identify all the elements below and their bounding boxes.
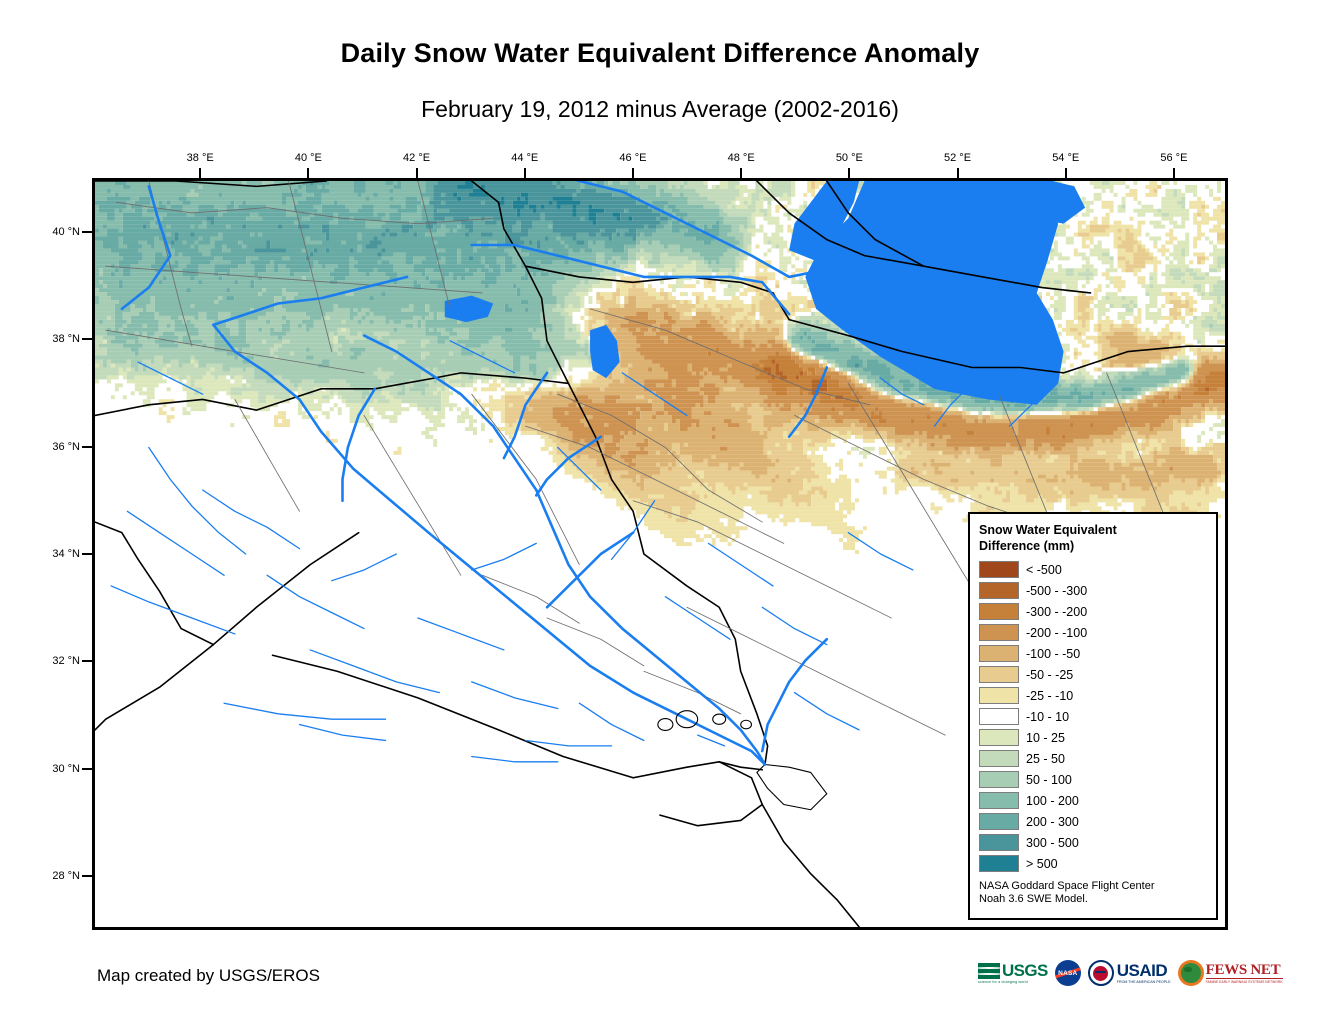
minor-river [224, 703, 385, 719]
legend-row: 100 - 200 [979, 790, 1207, 811]
usaid-logo: USAID FROM THE AMERICAN PEOPLE [1088, 960, 1171, 986]
minor-river [794, 693, 859, 730]
legend-class-label: > 500 [1026, 857, 1058, 871]
admin-border [235, 399, 300, 511]
legend-color-swatch [979, 624, 1019, 641]
fews-net-tagline: FAMINE EARLY WARNING SYSTEMS NETWORK [1206, 980, 1283, 984]
lat-tick-label: 28 °N [34, 870, 80, 882]
fews-globe-land-icon [1181, 963, 1201, 983]
minor-river [418, 618, 504, 650]
legend-class-label: 10 - 25 [1026, 731, 1065, 745]
legend-row: 200 - 300 [979, 811, 1207, 832]
legend-color-swatch [979, 834, 1019, 851]
nasa-logo: NASA [1055, 960, 1081, 986]
legend-row: -500 - -300 [979, 580, 1207, 601]
lon-tick-mark [740, 168, 742, 178]
legend-color-swatch [979, 813, 1019, 830]
usgs-wordmark: USGS [1002, 962, 1048, 979]
legend-row: -10 - 10 [979, 706, 1207, 727]
lon-tick-label: 50 °E [836, 152, 863, 164]
legend-class-label: -500 - -300 [1026, 584, 1087, 598]
usaid-tagline: FROM THE AMERICAN PEOPLE [1117, 980, 1171, 984]
page-subtitle: February 19, 2012 minus Average (2002-20… [0, 96, 1320, 123]
agency-logo-strip: USGS science for a changing world NASA U… [978, 955, 1283, 991]
minor-river [472, 756, 558, 761]
legend-row: -100 - -50 [979, 643, 1207, 664]
legend-color-swatch [979, 750, 1019, 767]
lon-tick-label: 46 °E [619, 152, 646, 164]
lat-tick-mark [82, 875, 92, 877]
minor-river [472, 682, 558, 709]
legend-class-label: 50 - 100 [1026, 773, 1072, 787]
legend-row: 25 - 50 [979, 748, 1207, 769]
legend-class-label: -100 - -50 [1026, 647, 1080, 661]
legend-color-swatch [979, 666, 1019, 683]
minor-river [149, 447, 246, 554]
legend-color-swatch [979, 582, 1019, 599]
minor-river [203, 490, 300, 549]
lat-tick-label: 38 °N [34, 333, 80, 345]
legend-class-label: -10 - 10 [1026, 710, 1069, 724]
legend-class-label: 300 - 500 [1026, 836, 1079, 850]
legend-color-swatch [979, 855, 1019, 872]
legend-color-swatch [979, 561, 1019, 578]
lon-tick-mark [307, 168, 309, 178]
lat-tick-mark [82, 231, 92, 233]
fews-net-logo: FEWS NET FAMINE EARLY WARNING SYSTEMS NE… [1178, 960, 1283, 986]
legend-class-label: -50 - -25 [1026, 668, 1073, 682]
page-title: Daily Snow Water Equivalent Difference A… [0, 38, 1320, 69]
legend-color-swatch [979, 729, 1019, 746]
legend-row: 50 - 100 [979, 769, 1207, 790]
legend-color-swatch [979, 603, 1019, 620]
major-river [762, 639, 827, 751]
lat-tick-label: 34 °N [34, 548, 80, 560]
national-border [95, 522, 213, 645]
legend-row: -300 - -200 [979, 601, 1207, 622]
lon-tick-label: 44 °E [511, 152, 538, 164]
legend-row: -200 - -100 [979, 622, 1207, 643]
nasa-meatball-icon: NASA [1055, 960, 1081, 986]
national-border [660, 762, 762, 826]
lat-tick-label: 32 °N [34, 655, 80, 667]
legend-class-label: -25 - -10 [1026, 689, 1073, 703]
admin-border [644, 671, 741, 714]
usgs-wave-icon [978, 963, 1000, 979]
legend-row: 300 - 500 [979, 832, 1207, 853]
persian-gulf-head-coast [757, 765, 827, 810]
legend-class-label: 25 - 50 [1026, 752, 1065, 766]
legend-color-swatch [979, 645, 1019, 662]
lat-tick-label: 40 °N [34, 226, 80, 238]
usaid-wordmark: USAID [1117, 962, 1171, 979]
usaid-seal-inner-icon [1093, 966, 1108, 981]
mesopotamian-marsh [741, 720, 752, 729]
legend-class-label: 100 - 200 [1026, 794, 1079, 808]
legend-source-note: NASA Goddard Space Flight Center Noah 3.… [979, 880, 1207, 906]
legend-class-label: -300 - -200 [1026, 605, 1087, 619]
legend-row: -50 - -25 [979, 664, 1207, 685]
lat-tick-mark [82, 768, 92, 770]
lon-tick-mark [524, 168, 526, 178]
minor-river [111, 586, 235, 634]
minor-river [708, 543, 773, 586]
legend-row: -25 - -10 [979, 685, 1207, 706]
fews-globe-icon [1178, 960, 1204, 986]
legend-class-label: < -500 [1026, 563, 1062, 577]
lat-tick-mark [82, 338, 92, 340]
legend-panel: Snow Water Equivalent Difference (mm) < … [968, 512, 1218, 920]
legend-color-swatch [979, 687, 1019, 704]
usgs-logo: USGS science for a changing world [978, 962, 1048, 984]
lon-tick-label: 56 °E [1160, 152, 1187, 164]
lon-tick-mark [957, 168, 959, 178]
lon-tick-mark [199, 168, 201, 178]
legend-row: > 500 [979, 853, 1207, 874]
legend-color-swatch [979, 708, 1019, 725]
minor-river [267, 575, 364, 628]
map-credit: Map created by USGS/EROS [97, 966, 320, 986]
lon-tick-label: 38 °E [187, 152, 214, 164]
legend-row: 10 - 25 [979, 727, 1207, 748]
lon-tick-mark [1173, 168, 1175, 178]
minor-river [762, 607, 827, 644]
lon-tick-label: 40 °E [295, 152, 322, 164]
lon-tick-mark [632, 168, 634, 178]
mesopotamian-marsh [713, 714, 726, 724]
legend-class-label: -200 - -100 [1026, 626, 1087, 640]
legend-class-list: < -500-500 - -300-300 - -200-200 - -100-… [979, 559, 1207, 874]
lon-tick-mark [416, 168, 418, 178]
mesopotamian-marsh [658, 719, 673, 731]
minor-river [665, 597, 730, 640]
lon-tick-mark [1065, 168, 1067, 178]
admin-border [364, 415, 461, 575]
lat-tick-mark [82, 446, 92, 448]
national-border [273, 655, 763, 778]
legend-color-swatch [979, 771, 1019, 788]
legend-title: Snow Water Equivalent Difference (mm) [979, 522, 1207, 554]
usgs-tagline: science for a changing world [978, 980, 1028, 984]
minor-river [579, 703, 644, 740]
usaid-seal-icon [1088, 960, 1114, 986]
lat-tick-label: 30 °N [34, 763, 80, 775]
lon-tick-mark [848, 168, 850, 178]
lat-tick-mark [82, 660, 92, 662]
lon-tick-label: 52 °E [944, 152, 971, 164]
lat-tick-mark [82, 553, 92, 555]
legend-color-swatch [979, 792, 1019, 809]
lon-tick-label: 54 °E [1052, 152, 1079, 164]
minor-river [472, 543, 537, 570]
legend-row: < -500 [979, 559, 1207, 580]
minor-river [526, 741, 612, 746]
fews-net-wordmark: FEWS NET [1206, 963, 1283, 979]
nasa-wordmark: NASA [1058, 970, 1077, 977]
minor-river [310, 650, 439, 693]
lat-tick-label: 36 °N [34, 441, 80, 453]
lon-tick-label: 42 °E [403, 152, 430, 164]
lon-tick-label: 48 °E [728, 152, 755, 164]
minor-river [332, 554, 397, 581]
minor-river [300, 725, 386, 741]
national-border [762, 804, 859, 927]
legend-class-label: 200 - 300 [1026, 815, 1079, 829]
